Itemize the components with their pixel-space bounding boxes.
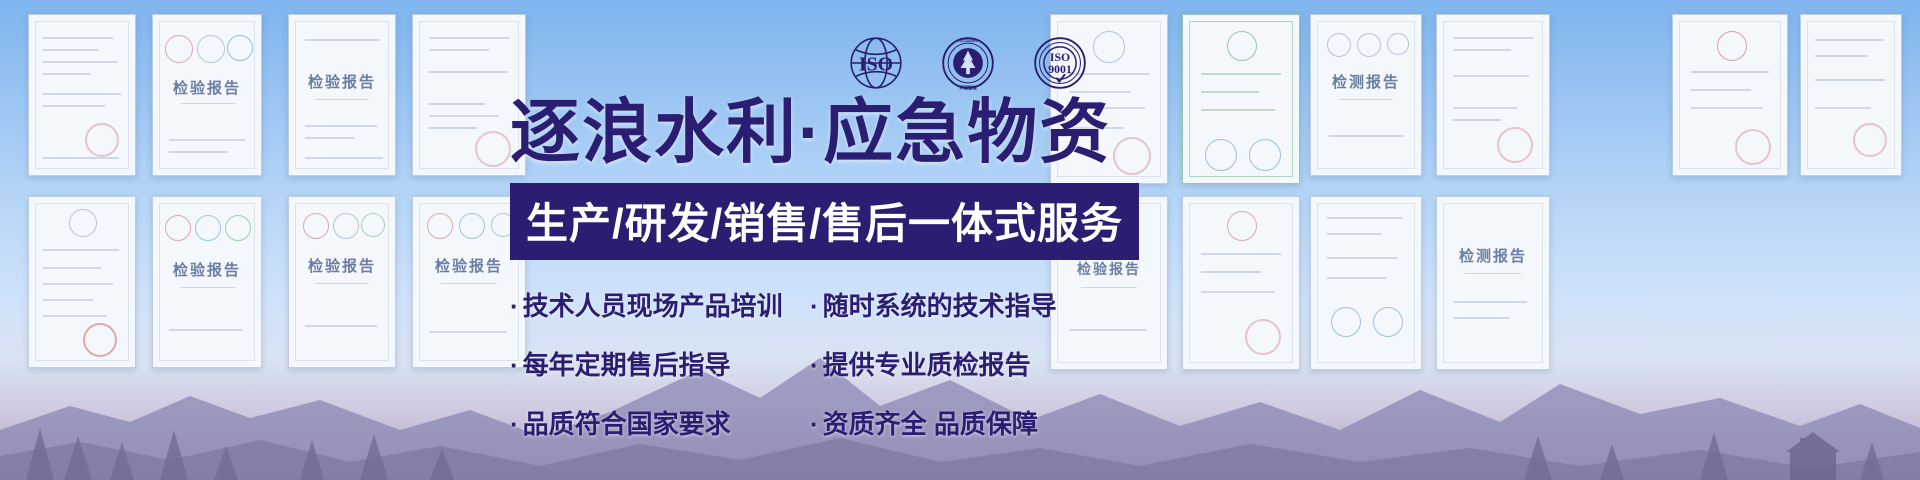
- bullet-dot: ·: [510, 409, 519, 439]
- feature-label: 提供专业质检报告: [823, 350, 1031, 380]
- bullet-dot: ·: [510, 350, 519, 380]
- bullet-dot: ·: [810, 409, 819, 439]
- feature-item: ·资质齐全 品质保障: [810, 404, 1070, 441]
- svg-text:9001: 9001: [1048, 63, 1072, 76]
- promo-banner: 检验报告 检验报告: [0, 0, 1920, 480]
- certificate-thumb: [1436, 14, 1550, 176]
- feature-list: ·技术人员现场产品培训 ·随时系统的技术指导 ·每年定期售后指导 ·提供专业质检…: [510, 286, 1210, 441]
- feature-label: 品质符合国家要求: [523, 409, 731, 439]
- certificate-thumb: 检验报告: [152, 14, 262, 176]
- iso-9001-quality-badge-icon: ISO 9001: [1029, 32, 1091, 94]
- feature-item: ·提供专业质检报告: [810, 345, 1070, 382]
- banner-content: 逐浪水利·应急物资 生产/研发/销售/售后一体式服务 ·技术人员现场产品培训 ·…: [510, 96, 1210, 441]
- banner-title: 逐浪水利·应急物资: [510, 96, 1210, 169]
- bullet-dot: ·: [510, 291, 519, 321]
- feature-item: ·技术人员现场产品培训: [510, 286, 810, 323]
- feature-label: 技术人员现场产品培训: [523, 291, 783, 321]
- feature-item: ·每年定期售后指导: [510, 345, 810, 382]
- certificate-thumb: [1672, 14, 1788, 176]
- banner-subtitle-bar: 生产/研发/销售/售后一体式服务: [510, 183, 1139, 260]
- certificate-thumb: [28, 14, 136, 176]
- certification-badge-row: ISO ISO14000 环境管理 ISO 9001: [845, 32, 1091, 94]
- bullet-dot: ·: [810, 291, 819, 321]
- feature-label: 随时系统的技术指导: [823, 291, 1057, 321]
- svg-text:环境管理: 环境管理: [959, 85, 977, 92]
- banner-subtitle: 生产/研发/销售/售后一体式服务: [526, 200, 1123, 247]
- certificate-thumb: 检测报告: [1310, 14, 1422, 176]
- iso-globe-badge-icon: ISO: [845, 32, 907, 94]
- certificate-thumb: [1800, 14, 1902, 176]
- svg-text:ISO: ISO: [1050, 51, 1070, 64]
- svg-text:ISO14000: ISO14000: [958, 38, 978, 43]
- certificate-thumb: 检验报告: [288, 14, 396, 176]
- certificate-thumb: [412, 14, 526, 176]
- feature-item: ·随时系统的技术指导: [810, 286, 1070, 323]
- feature-label: 资质齐全 品质保障: [823, 409, 1038, 439]
- iso-14000-environment-badge-icon: ISO14000 环境管理: [937, 32, 999, 94]
- svg-text:ISO: ISO: [859, 53, 893, 75]
- feature-label: 每年定期售后指导: [523, 350, 731, 380]
- bullet-dot: ·: [810, 350, 819, 380]
- feature-item: ·品质符合国家要求: [510, 404, 810, 441]
